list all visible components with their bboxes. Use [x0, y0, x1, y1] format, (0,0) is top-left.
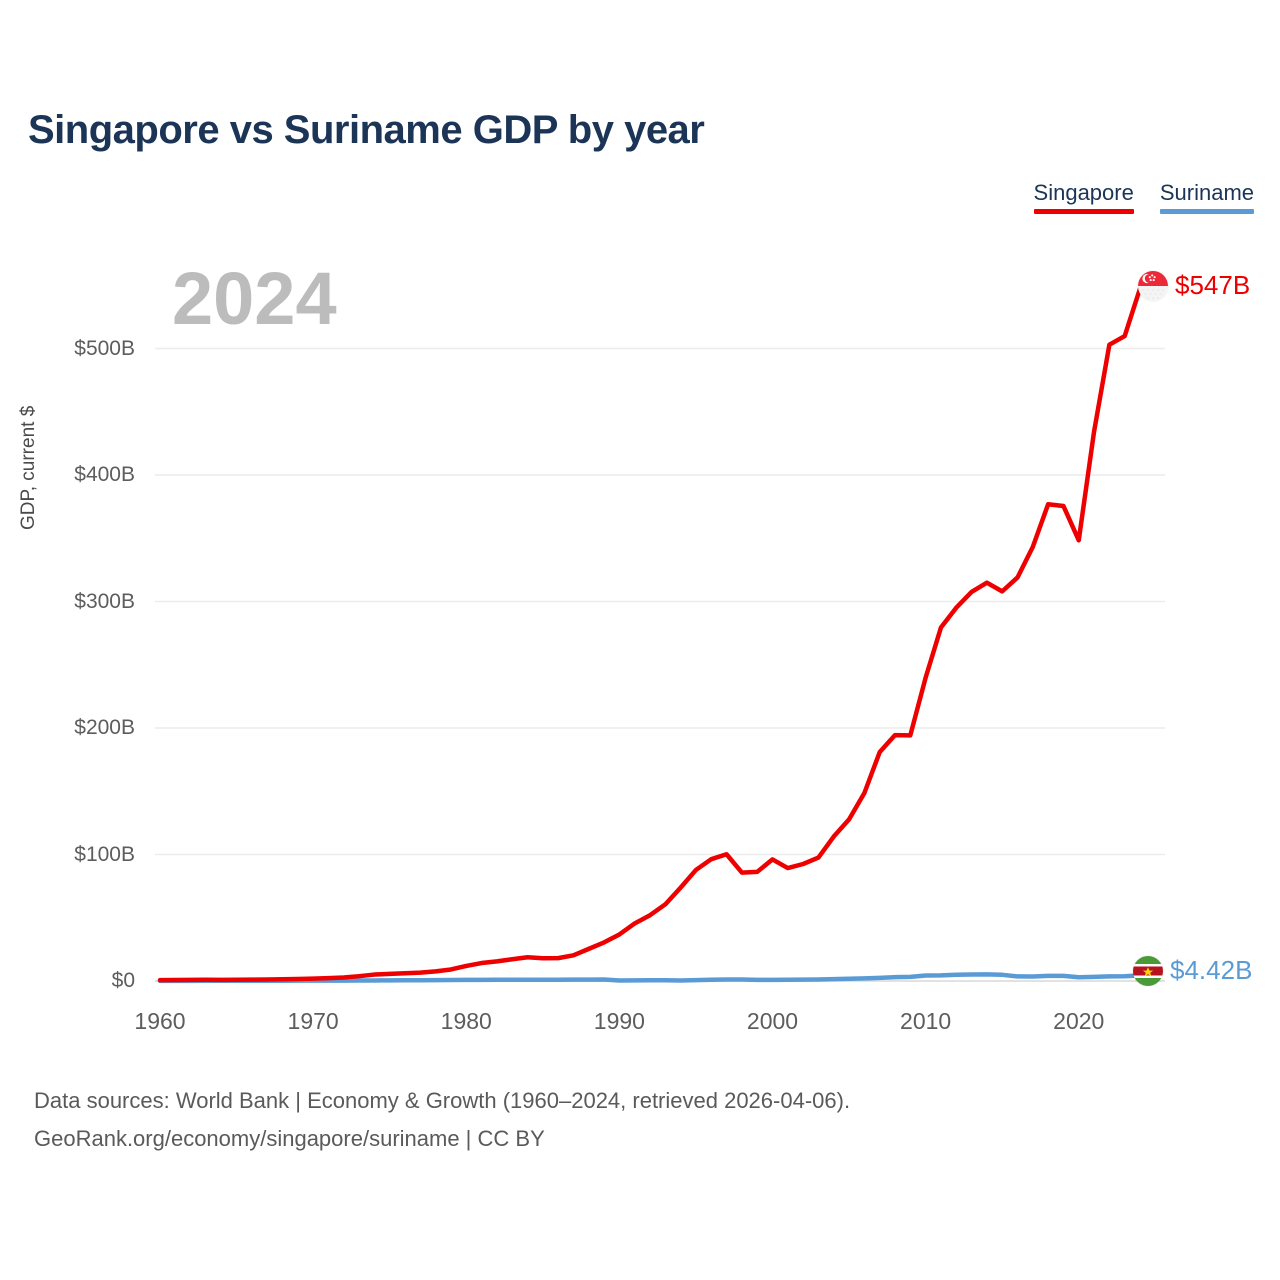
y-tick-label: $400B [74, 463, 135, 487]
chart-legend: Singapore Suriname [1034, 180, 1254, 214]
y-tick-label: $0 [112, 969, 135, 993]
x-tick-label: 1960 [134, 1008, 185, 1035]
y-tick-label: $300B [74, 590, 135, 614]
line-chart-svg [155, 240, 1165, 985]
gridlines [155, 349, 1165, 982]
legend-rule-suriname [1160, 209, 1254, 214]
legend-label-suriname: Suriname [1160, 180, 1254, 206]
x-tick-label: 2010 [900, 1008, 951, 1035]
singapore-flag-icon [1138, 271, 1168, 301]
x-tick-label: 2020 [1053, 1008, 1104, 1035]
y-axis-title: GDP, current $ [18, 406, 40, 530]
x-tick-label: 1980 [441, 1008, 492, 1035]
legend-label-singapore: Singapore [1034, 180, 1134, 206]
suriname-flag-icon [1133, 956, 1163, 986]
endpoint-suriname: $4.42B [1133, 955, 1252, 986]
x-tick-label: 1990 [594, 1008, 645, 1035]
footer-line-1: Data sources: World Bank | Economy & Gro… [34, 1082, 850, 1120]
endpoint-value-suriname: $4.42B [1170, 955, 1252, 986]
plot-area [155, 240, 1165, 985]
endpoint-value-singapore: $547B [1175, 270, 1250, 301]
legend-rule-singapore [1034, 209, 1134, 214]
x-tick-label: 1970 [288, 1008, 339, 1035]
endpoint-singapore: $547B [1138, 270, 1250, 301]
x-tick-label: 2000 [747, 1008, 798, 1035]
y-tick-label: $500B [74, 337, 135, 361]
y-tick-label: $100B [74, 843, 135, 867]
footer: Data sources: World Bank | Economy & Gro… [34, 1082, 850, 1158]
page-title: Singapore vs Suriname GDP by year [28, 108, 704, 153]
legend-item-singapore[interactable]: Singapore [1034, 180, 1134, 214]
footer-line-2: GeoRank.org/economy/singapore/suriname |… [34, 1120, 850, 1158]
y-tick-label: $200B [74, 716, 135, 740]
series-line-singapore [160, 289, 1140, 981]
legend-item-suriname[interactable]: Suriname [1160, 180, 1254, 214]
